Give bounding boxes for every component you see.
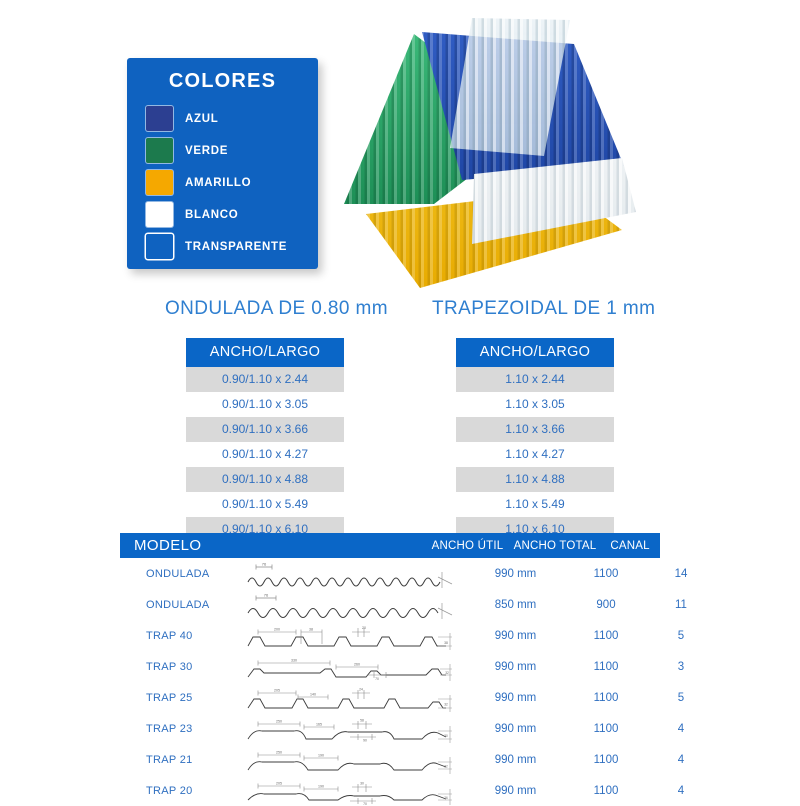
svg-text:58: 58 (360, 719, 364, 723)
svg-text:190: 190 (318, 754, 324, 758)
section-title-ondulada: ONDULADA DE 0.80 mm (165, 298, 388, 320)
table-row: TRAP 21 250 190 32 990 mm 1100 4 (120, 744, 660, 775)
svg-text:38: 38 (309, 628, 313, 632)
size-row: 0.90/1.10 x 2.44 (186, 367, 344, 392)
cell-canal: 5 (651, 630, 711, 642)
cell-ancho-total: 1100 (561, 754, 651, 766)
svg-text:26: 26 (444, 796, 448, 800)
size-row: 1.10 x 3.05 (456, 392, 614, 417)
profile-diagram-trap21: 250 190 32 (246, 744, 470, 775)
cell-ancho-util: 990 mm (470, 568, 561, 580)
size-table-ondulada: ANCHO/LARGO 0.90/1.10 x 2.44 0.90/1.10 x… (186, 338, 344, 542)
swatch-azul-icon (146, 106, 173, 131)
size-row: 0.90/1.10 x 3.66 (186, 417, 344, 442)
swatch-verde-icon (146, 138, 173, 163)
svg-text:250: 250 (276, 751, 282, 755)
svg-text:30: 30 (360, 782, 364, 786)
table-row: ONDULADA 76 850 mm 900 11 (120, 589, 660, 620)
cell-ancho-total: 1100 (561, 692, 651, 704)
cell-ancho-total: 1100 (561, 568, 651, 580)
cell-ancho-util: 990 mm (470, 661, 561, 673)
profile-diagram-trap30: 330 260 70 32 (246, 651, 470, 682)
wave-profile-icon: 76 (246, 558, 470, 589)
svg-text:205: 205 (276, 782, 282, 786)
svg-text:90: 90 (363, 739, 367, 743)
size-row: 0.90/1.10 x 4.88 (186, 467, 344, 492)
svg-text:32: 32 (445, 671, 449, 675)
product-photo (322, 8, 662, 290)
svg-text:70: 70 (363, 802, 367, 806)
svg-text:30: 30 (444, 734, 448, 738)
table-row: TRAP 25 205 140 24 32 990 mm 1100 5 (120, 682, 660, 713)
svg-text:70: 70 (375, 677, 379, 681)
header-ancho-util: ANCHO ÚTIL (425, 540, 510, 552)
cell-modelo: ONDULADA (120, 599, 246, 611)
trapezoid-profile-icon: 250 190 32 (246, 744, 470, 775)
color-label-amarillo: AMARILLO (185, 177, 251, 189)
cell-canal: 4 (651, 785, 711, 797)
color-item-azul: AZUL (146, 104, 318, 133)
cell-ancho-total: 1100 (561, 661, 651, 673)
cell-canal: 4 (651, 754, 711, 766)
cell-ancho-total: 1100 (561, 630, 651, 642)
cell-modelo: TRAP 40 (120, 630, 246, 642)
cell-canal: 14 (651, 568, 711, 580)
cell-canal: 5 (651, 692, 711, 704)
svg-text:76: 76 (262, 562, 267, 567)
profile-diagram-trap25: 205 140 24 32 (246, 682, 470, 713)
cell-canal: 4 (651, 723, 711, 735)
color-item-verde: VERDE (146, 136, 318, 165)
size-table-ondulada-header: ANCHO/LARGO (186, 338, 344, 367)
cell-canal: 11 (651, 599, 711, 611)
cell-modelo: ONDULADA (120, 568, 246, 580)
svg-text:190: 190 (318, 785, 324, 789)
svg-text:76: 76 (264, 593, 269, 598)
wave-profile-icon: 76 (246, 589, 470, 620)
table-row: TRAP 30 330 260 70 32 990 mm 1100 3 (120, 651, 660, 682)
svg-text:24: 24 (359, 688, 363, 692)
size-row: 0.90/1.10 x 4.27 (186, 442, 344, 467)
cell-canal: 3 (651, 661, 711, 673)
svg-text:32: 32 (444, 765, 448, 769)
color-label-transparente: TRANSPARENTE (185, 241, 287, 253)
color-item-transparente: TRANSPARENTE (146, 232, 318, 261)
profile-diagram-trap20: 205 190 30 70 26 (246, 775, 470, 806)
svg-text:250: 250 (276, 720, 282, 724)
trapezoid-profile-icon: 205 140 24 32 (246, 682, 470, 713)
swatch-amarillo-icon (146, 170, 173, 195)
cell-ancho-total: 900 (561, 599, 651, 611)
cell-ancho-util: 990 mm (470, 723, 561, 735)
svg-text:32: 32 (444, 703, 448, 707)
size-row: 0.90/1.10 x 5.49 (186, 492, 344, 517)
cell-ancho-util: 990 mm (470, 754, 561, 766)
product-spec-sheet: COLORES AZUL VERDE AMARILLO BLANCO TRANS… (0, 0, 800, 800)
cell-ancho-util: 850 mm (470, 599, 561, 611)
header-ancho-total: ANCHO TOTAL (510, 540, 600, 552)
size-table-trapezoidal-header: ANCHO/LARGO (456, 338, 614, 367)
table-row: TRAP 20 205 190 30 70 26 990 mm (120, 775, 660, 806)
size-row: 1.10 x 5.49 (456, 492, 614, 517)
svg-text:20: 20 (362, 626, 366, 630)
colores-panel: COLORES AZUL VERDE AMARILLO BLANCO TRANS… (127, 58, 318, 269)
cell-ancho-util: 990 mm (470, 785, 561, 797)
size-row: 0.90/1.10 x 3.05 (186, 392, 344, 417)
color-item-amarillo: AMARILLO (146, 168, 318, 197)
svg-text:260: 260 (354, 663, 360, 667)
svg-text:140: 140 (310, 693, 316, 697)
trapezoid-profile-icon: 205 190 30 70 26 (246, 775, 470, 806)
header-modelo: MODELO (120, 537, 324, 554)
cell-modelo: TRAP 21 (120, 754, 246, 766)
color-label-verde: VERDE (185, 145, 228, 157)
roofing-sheets-illustration (322, 8, 662, 290)
svg-text:165: 165 (316, 723, 322, 727)
color-label-azul: AZUL (185, 113, 218, 125)
cell-ancho-util: 990 mm (470, 630, 561, 642)
cell-ancho-util: 990 mm (470, 692, 561, 704)
cell-modelo: TRAP 20 (120, 785, 246, 797)
profile-diagram-ondulada-990: 76 (246, 558, 470, 589)
profile-diagram-ondulada-850: 76 (246, 589, 470, 620)
cell-modelo: TRAP 23 (120, 723, 246, 735)
swatch-transparente-icon (146, 234, 173, 259)
table-row: TRAP 23 250 165 58 90 30 990 mm (120, 713, 660, 744)
size-row: 1.10 x 3.66 (456, 417, 614, 442)
cell-modelo: TRAP 25 (120, 692, 246, 704)
svg-text:330: 330 (291, 659, 297, 663)
cell-ancho-total: 1100 (561, 785, 651, 797)
svg-text:205: 205 (274, 689, 280, 693)
swatch-blanco-icon (146, 202, 173, 227)
color-label-blanco: BLANCO (185, 209, 238, 221)
table-row: TRAP 40 200 38 20 38 990 mm 1100 5 (120, 620, 660, 651)
spec-table-header-row: MODELO ANCHO ÚTIL ANCHO TOTAL CANAL (120, 533, 660, 558)
trapezoid-profile-icon: 330 260 70 32 (246, 651, 470, 682)
spec-table: MODELO ANCHO ÚTIL ANCHO TOTAL CANAL ONDU… (120, 533, 660, 806)
size-table-trapezoidal: ANCHO/LARGO 1.10 x 2.44 1.10 x 3.05 1.10… (456, 338, 614, 542)
color-item-blanco: BLANCO (146, 200, 318, 229)
cell-modelo: TRAP 30 (120, 661, 246, 673)
size-row: 1.10 x 4.27 (456, 442, 614, 467)
header-canal: CANAL (600, 540, 660, 552)
colores-swatch-list: AZUL VERDE AMARILLO BLANCO TRANSPARENTE (146, 104, 318, 261)
profile-diagram-trap40: 200 38 20 38 (246, 620, 470, 651)
table-row: ONDULADA 76 990 mm 1100 14 (120, 558, 660, 589)
svg-text:38: 38 (444, 641, 448, 645)
profile-diagram-trap23: 250 165 58 90 30 (246, 713, 470, 744)
size-row: 1.10 x 2.44 (456, 367, 614, 392)
section-title-trapezoidal: TRAPEZOIDAL DE 1 mm (432, 298, 655, 320)
cell-ancho-total: 1100 (561, 723, 651, 735)
svg-text:200: 200 (274, 628, 280, 632)
colores-title: COLORES (127, 70, 318, 93)
trapezoid-profile-icon: 200 38 20 38 (246, 620, 470, 651)
size-row: 1.10 x 4.88 (456, 467, 614, 492)
trapezoid-profile-icon: 250 165 58 90 30 (246, 713, 470, 744)
